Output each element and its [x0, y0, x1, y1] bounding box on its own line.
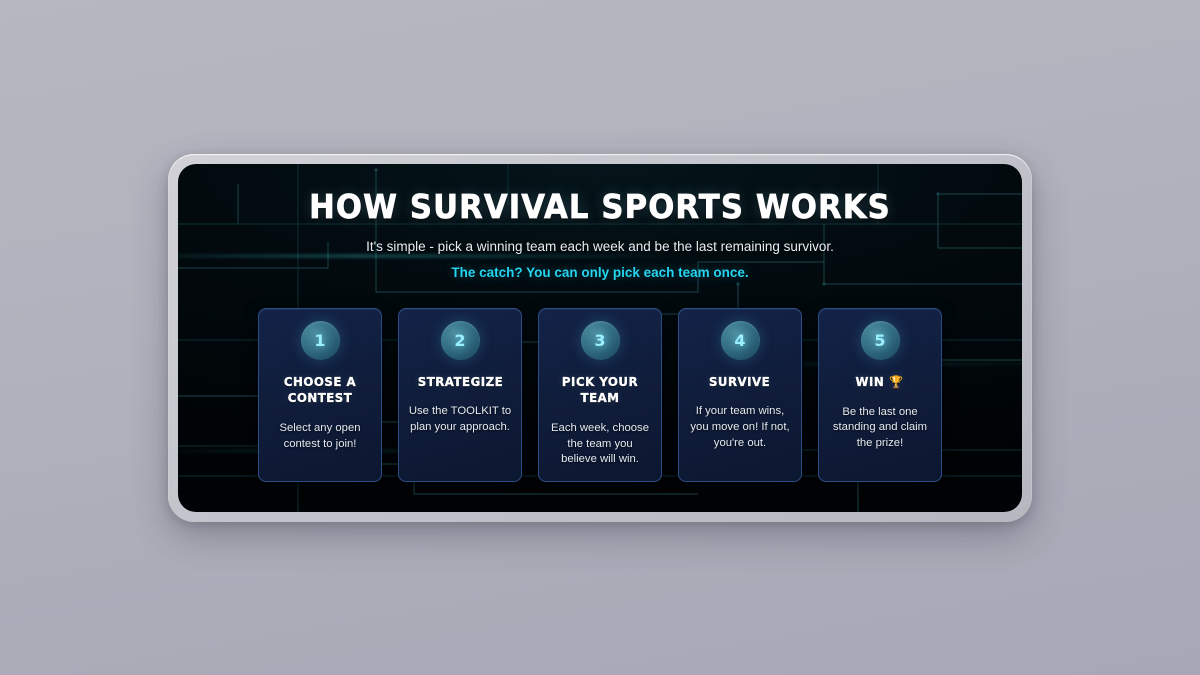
step-card-4[interactable]: 4 SURVIVE If your team wins, you move on…	[678, 308, 802, 482]
step-description-4: If your team wins, you move on! If not, …	[688, 404, 792, 451]
step-number-1: 1	[314, 331, 325, 350]
steps-list: 1 CHOOSE A CONTEST Select any open conte…	[202, 308, 998, 482]
step-card-1[interactable]: 1 CHOOSE A CONTEST Select any open conte…	[258, 308, 382, 482]
step-description-3: Each week, choose the team you believe w…	[548, 421, 652, 468]
step-number-badge-2: 2	[441, 321, 480, 360]
step-title-5: WIN🏆	[856, 374, 904, 391]
step-number-3: 3	[594, 331, 605, 350]
trophy-icon: 🏆	[889, 375, 904, 389]
device-frame: HOW SURVIVAL SPORTS WORKS It's simple - …	[168, 154, 1032, 522]
screen-panel: HOW SURVIVAL SPORTS WORKS It's simple - …	[178, 164, 1022, 512]
step-description-2: Use the TOOLKIT to plan your approach.	[408, 404, 512, 435]
step-title-text-3: PICK YOUR TEAM	[562, 374, 638, 406]
step-title-4: SURVIVE	[709, 374, 770, 391]
page-title: HOW SURVIVAL SPORTS WORKS	[230, 190, 970, 225]
subtitle-primary: It's simple - pick a winning team each w…	[202, 238, 998, 257]
step-title-text-2: STRATEGIZE	[417, 374, 502, 389]
step-number-5: 5	[874, 331, 885, 350]
step-description-1: Select any open contest to join!	[268, 421, 372, 452]
panel-content: HOW SURVIVAL SPORTS WORKS It's simple - …	[178, 164, 1022, 512]
step-number-2: 2	[454, 331, 465, 350]
step-number-badge-3: 3	[581, 321, 620, 360]
step-title-3: PICK YOUR TEAM	[551, 374, 649, 407]
step-number-4: 4	[734, 331, 745, 350]
step-card-5[interactable]: 5 WIN🏆 Be the last one standing and clai…	[818, 308, 942, 482]
subtitle-accent: The catch? You can only pick each team o…	[202, 264, 998, 283]
step-card-3[interactable]: 3 PICK YOUR TEAM Each week, choose the t…	[538, 308, 662, 482]
step-title-text-1: CHOOSE A CONTEST	[284, 374, 356, 406]
step-title-1: CHOOSE A CONTEST	[271, 374, 369, 407]
step-title-2: STRATEGIZE	[417, 374, 502, 391]
step-title-text-4: SURVIVE	[709, 374, 770, 389]
step-description-5: Be the last one standing and claim the p…	[828, 405, 932, 452]
step-title-text-5: WIN	[856, 374, 885, 389]
step-number-badge-5: 5	[861, 321, 900, 360]
step-card-2[interactable]: 2 STRATEGIZE Use the TOOLKIT to plan you…	[398, 308, 522, 482]
step-number-badge-1: 1	[301, 321, 340, 360]
step-number-badge-4: 4	[721, 321, 760, 360]
